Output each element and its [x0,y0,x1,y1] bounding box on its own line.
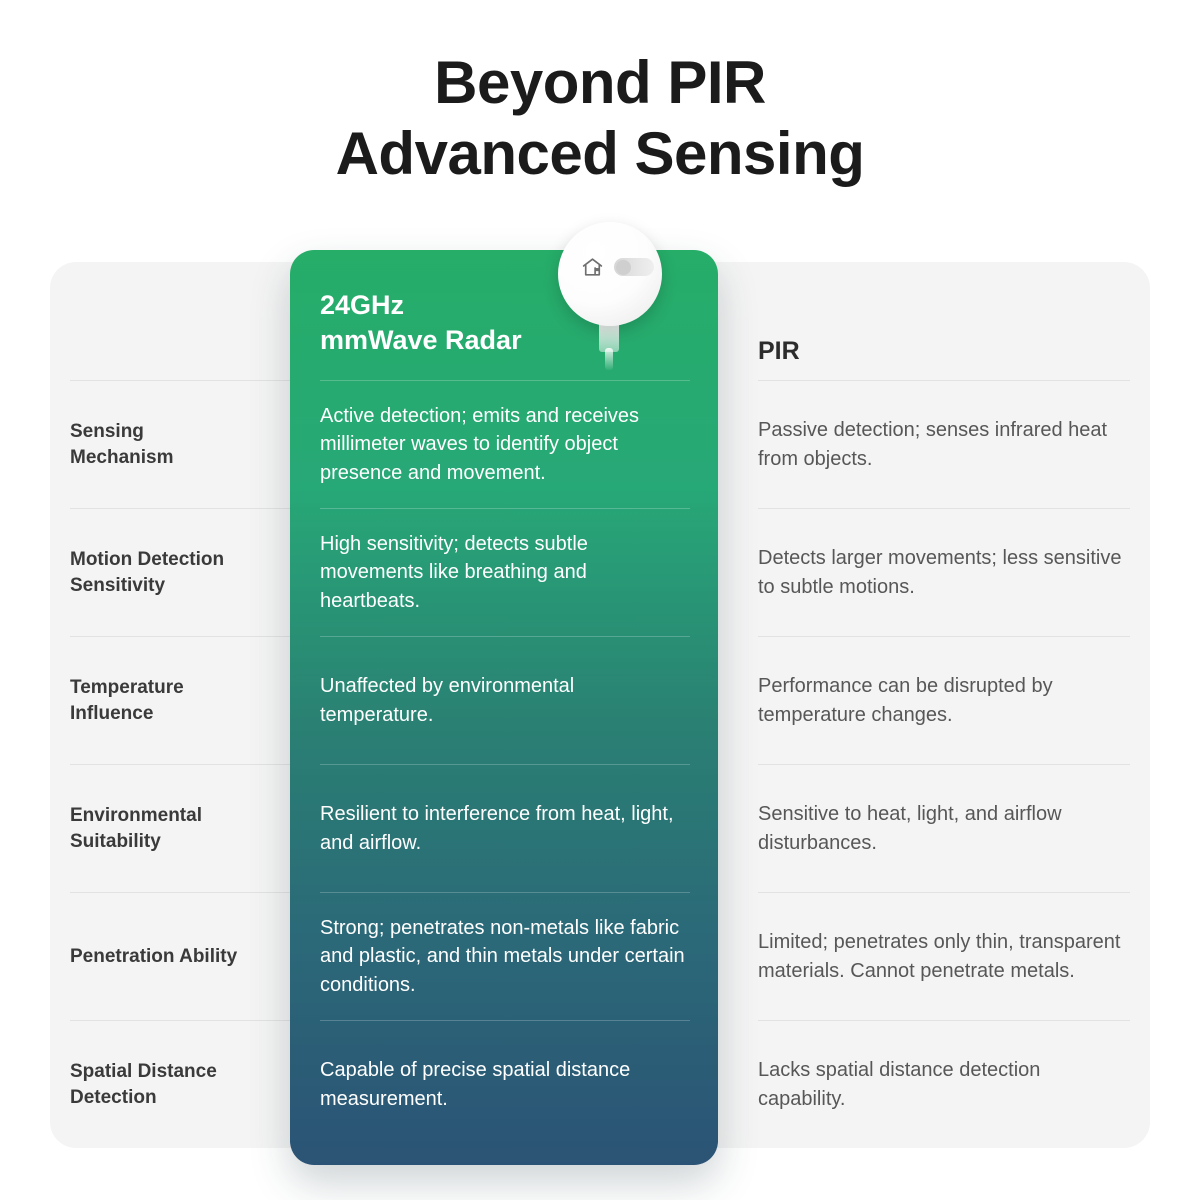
table-row: Passive detection; senses infrared heat … [758,380,1130,508]
row-label: Environmental Suitability [70,803,202,854]
feature-label-column: Sensing Mechanism Motion Detection Sensi… [70,262,300,1148]
row-label-line1: Penetration Ability [70,946,237,967]
title-line-2: Advanced Sensing [0,119,1200,190]
row-label: Temperature Influence [70,675,184,726]
table-row: High sensitivity; detects subtle movemen… [320,508,690,636]
row-label-line2: Detection [70,1087,157,1108]
page-title: Beyond PIR Advanced Sensing [0,48,1200,190]
table-row: Lacks spatial distance detection capabil… [758,1020,1130,1148]
pir-cell-text: Passive detection; senses infrared heat … [758,416,1130,473]
row-label-line1: Sensing [70,421,144,442]
title-line-1: Beyond PIR [0,48,1200,119]
mmwave-sensor-device-image [558,222,662,372]
row-label: Spatial Distance Detection [70,1059,217,1110]
table-row: Sensing Mechanism [70,380,300,508]
mmwave-header-label: 24GHz mmWave Radar [320,288,522,357]
row-label-line1: Temperature [70,677,184,698]
row-label-line2: Suitability [70,831,161,852]
pir-cell-text: Detects larger movements; less sensitive… [758,544,1130,601]
table-row: Sensitive to heat, light, and airflow di… [758,764,1130,892]
mmwave-cell-text: Strong; penetrates non-metals like fabri… [320,914,690,999]
pir-cell-text: Limited; penetrates only thin, transpare… [758,928,1130,985]
table-row: Detects larger movements; less sensitive… [758,508,1130,636]
mmwave-highlight-card: 24GHz mmWave Radar Active detection; emi… [290,250,718,1165]
row-label: Motion Detection Sensitivity [70,547,224,598]
home-icon [580,255,605,280]
row-label: Penetration Ability [70,944,237,970]
table-row: Temperature Influence [70,636,300,764]
mmwave-cell-text: Unaffected by environmental temperature. [320,672,690,729]
row-label-line1: Spatial Distance [70,1061,217,1082]
pir-cell-text: Lacks spatial distance detection capabil… [758,1056,1130,1113]
table-row: Strong; penetrates non-metals like fabri… [320,892,690,1020]
table-row: Unaffected by environmental temperature. [320,636,690,764]
pir-header-label: PIR [758,337,800,366]
mmwave-cell-text: Capable of precise spatial distance meas… [320,1056,690,1113]
table-row: Motion Detection Sensitivity [70,508,300,636]
pir-cell-text: Sensitive to heat, light, and airflow di… [758,800,1130,857]
toggle-knob [616,260,631,275]
mmwave-header-line1: 24GHz [320,290,404,320]
device-body [558,222,662,326]
table-row: Limited; penetrates only thin, transpare… [758,892,1130,1020]
pir-column: PIR Passive detection; senses infrared h… [758,262,1130,1148]
table-row: Resilient to interference from heat, lig… [320,764,690,892]
feature-column-header [70,262,300,380]
table-row: Environmental Suitability [70,764,300,892]
row-label-line1: Motion Detection [70,549,224,570]
table-row: Capable of precise spatial distance meas… [320,1020,690,1148]
row-label: Sensing Mechanism [70,419,173,470]
row-label-line2: Mechanism [70,447,173,468]
mmwave-column: 24GHz mmWave Radar Active detection; emi… [320,250,690,1165]
mmwave-cell-text: Resilient to interference from heat, lig… [320,800,690,857]
pir-cell-text: Performance can be disrupted by temperat… [758,672,1130,729]
mmwave-header-line2: mmWave Radar [320,325,522,355]
device-cable-tip [605,348,613,370]
power-toggle[interactable] [614,258,654,276]
table-row: Performance can be disrupted by temperat… [758,636,1130,764]
table-row: Active detection; emits and receives mil… [320,380,690,508]
row-label-line1: Environmental [70,805,202,826]
table-row: Spatial Distance Detection [70,1020,300,1148]
mmwave-cell-text: High sensitivity; detects subtle movemen… [320,530,690,615]
row-label-line2: Sensitivity [70,575,165,596]
row-label-line2: Influence [70,703,153,724]
pir-column-header: PIR [758,262,1130,380]
mmwave-cell-text: Active detection; emits and receives mil… [320,402,690,487]
table-row: Penetration Ability [70,892,300,1020]
infographic-page: Beyond PIR Advanced Sensing Sensing Mech… [0,0,1200,1200]
